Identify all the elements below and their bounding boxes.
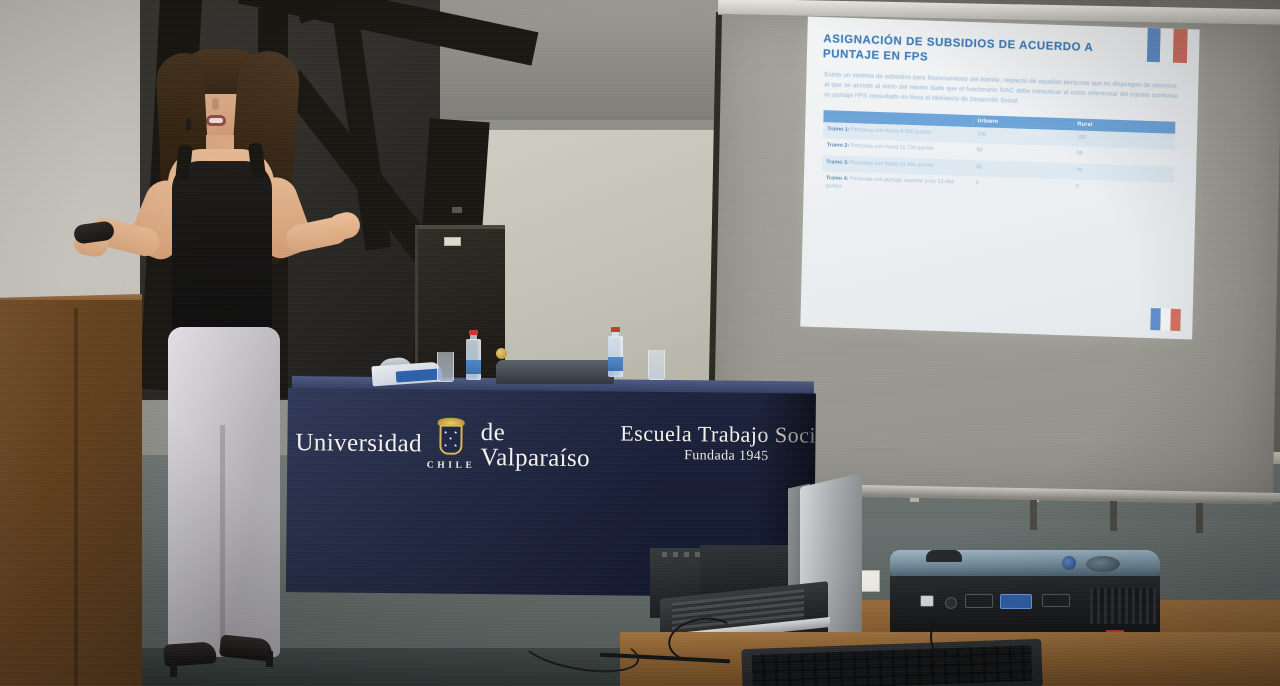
university-name-suffix: de Valparaíso [480,420,590,471]
projector-audio-port[interactable] [945,597,957,609]
water-bottle [466,330,481,380]
door-sign [444,237,461,246]
projector-usb-port[interactable] [920,595,934,607]
screen-leg [1030,500,1037,530]
chile-flag-icon-bottom [1150,308,1181,331]
projector-serial-port[interactable] [1042,594,1070,607]
slide-table: Urbano Rural Tramo 1: Personas con hasta… [822,110,1176,208]
projector-button[interactable] [1062,556,1076,570]
shoe-heel [266,651,273,667]
table-cell-urbano: 0 [971,176,1072,204]
presentation-photo: ASIGNACIÓN DE SUBSIDIOS DE ACUERDO A PUN… [0,0,1280,686]
projector-focus-dial[interactable] [1086,556,1120,572]
screen-leg [1110,501,1117,531]
projector-vga-port[interactable] [1000,594,1032,609]
black-top [172,161,272,336]
slide-body-text: Existe un sistema de subsidios para fina… [824,70,1179,111]
slide-title: ASIGNACIÓN DE SUBSIDIOS DE ACUERDO A PUN… [823,32,1142,73]
earring [186,118,191,131]
drinking-glass [648,350,665,380]
pants-shading [168,327,280,657]
table-cell-label: Tramo 4: Personas con puntaje superior a… [822,171,973,201]
mouth-inner [209,118,223,123]
screen-leg [1196,503,1203,533]
door-frame-mark [452,207,462,213]
chair-back [496,360,614,384]
drinking-glass [437,352,454,382]
projector-handle[interactable] [926,550,962,562]
projector-vent [1090,588,1156,624]
cable [930,612,970,662]
presenter [60,45,360,685]
chile-flag-icon [1147,28,1188,63]
crest-icon [435,418,468,458]
university-crest-group: CHILE [427,417,476,471]
nose [212,98,219,110]
projector-dvi-port[interactable] [965,594,993,608]
crest-country-label: CHILE [427,460,476,471]
banner-text-group: Universidad CHILE de Valparaíso [287,416,816,475]
water-bottle [608,327,623,377]
table-cell-rural: 0 [1071,179,1174,207]
shoe-heel [170,661,177,677]
door-knob-icon[interactable] [496,348,507,359]
projected-slide: ASIGNACIÓN DE SUBSIDIOS DE ACUERDO A PUN… [800,17,1199,340]
